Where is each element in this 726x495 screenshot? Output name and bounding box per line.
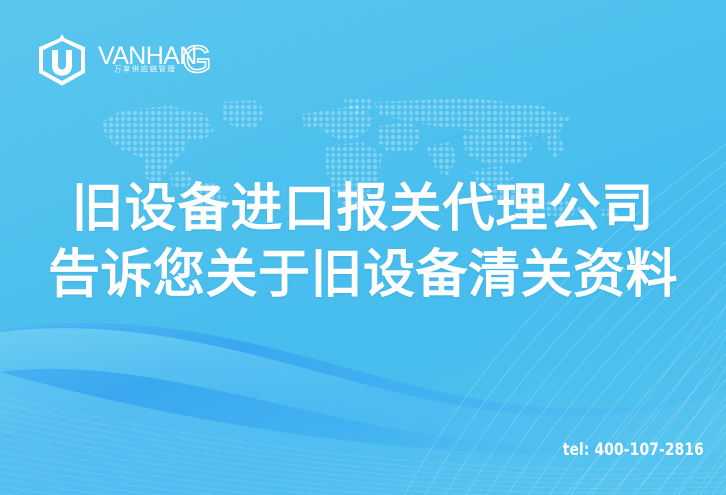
brand-subtitle: 万享供应链管理	[114, 64, 176, 74]
contact-phone[interactable]: tel: 400-107-2816	[563, 440, 704, 460]
headline-line-2: 告诉您关于旧设备清关资料	[0, 242, 726, 308]
vanhang-hexagon-u-logo	[34, 32, 90, 88]
headline-line-1: 旧设备进口报关代理公司	[0, 176, 726, 242]
brand-wordmark-group: VANHAN G 万享供应链管理	[98, 32, 222, 88]
wordmark-g: G	[182, 39, 212, 81]
headline: 旧设备进口报关代理公司 告诉您关于旧设备清关资料	[0, 176, 726, 308]
vanhang-wordmark: VANHAN G	[98, 38, 222, 82]
promo-banner: VANHAN G 万享供应链管理 旧设备进口报关代理公司 告诉您关于旧设备清关资…	[0, 0, 726, 495]
brand-logo[interactable]: VANHAN G 万享供应链管理	[34, 31, 222, 89]
